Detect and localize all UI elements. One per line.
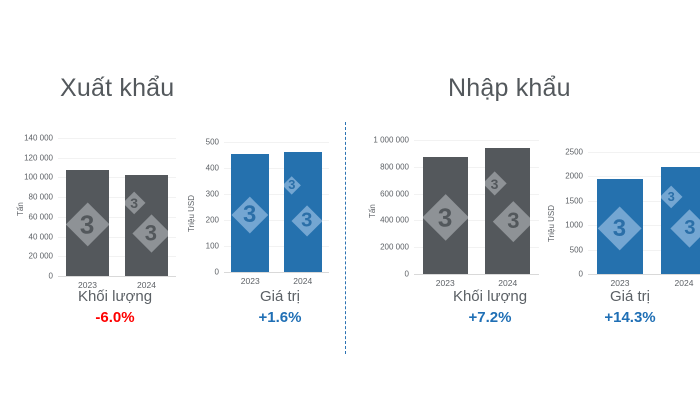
gridline [588,152,700,153]
y-axis-tick-label: 500 [182,138,219,147]
caption-export-value: Giá trị +1.6% [205,287,355,328]
y-axis-tick-label: 0 [182,268,219,277]
y-axis-tick-label: 0 [8,272,53,281]
caption-value: +14.3% [560,308,700,328]
caption-export-volume: Khối lượng -6.0% [20,287,210,328]
bar-2024 [485,148,530,274]
gridline [224,142,329,143]
y-axis-tick-label: 40 000 [8,232,53,241]
bar-2023 [597,179,643,274]
y-axis-tick-label: 100 000 [8,173,53,182]
bar-2024 [284,152,322,272]
caption-import-value: Giá trị +14.3% [560,287,700,328]
bar-2024 [125,175,167,276]
x-axis-line [224,272,329,273]
y-axis-tick-label: 800 000 [352,162,409,171]
y-axis-tick-label: 2500 [540,148,583,157]
gridline [58,158,176,159]
y-axis-tick-label: 0 [540,270,583,279]
y-axis-tick-label: 2000 [540,172,583,181]
caption-label: Khối lượng [395,287,585,306]
y-axis-tick-label: 200 000 [352,243,409,252]
chart-import-volume: Tấn0200 000400 000600 000800 0001 000 00… [352,130,545,296]
y-axis-tick-label: 1500 [540,196,583,205]
x-axis-tick-label: 2023 [224,276,277,286]
caption-value: +1.6% [205,308,355,328]
y-axis-tick-label: 200 [182,216,219,225]
y-axis-tick-label: 600 000 [352,189,409,198]
y-axis-tick-label: 0 [352,270,409,279]
caption-import-volume: Khối lượng +7.2% [395,287,585,328]
x-axis-line [414,274,539,275]
bar-2023 [231,154,269,272]
bar-2024 [661,167,700,274]
y-axis-tick-label: 400 000 [352,216,409,225]
caption-value: -6.0% [20,308,210,328]
bar-2023 [423,157,468,274]
y-axis-tick-label: 500 [540,245,583,254]
y-axis-tick-label: 100 [182,242,219,251]
caption-label: Giá trị [205,287,355,306]
y-axis-tick-label: 400 [182,164,219,173]
caption-label: Khối lượng [20,287,210,306]
y-axis-tick-label: 300 [182,190,219,199]
gridline [58,138,176,139]
x-axis-line [588,274,700,275]
x-axis-tick-label: 2024 [277,276,330,286]
y-axis-tick-label: 60 000 [8,212,53,221]
y-axis-title: Triệu USD [187,195,196,232]
section-title-export: Xuất khẩu [60,74,174,103]
caption-value: +7.2% [395,308,585,328]
y-axis-tick-label: 1 000 000 [352,136,409,145]
y-axis-tick-label: 1000 [540,221,583,230]
chart-export-volume: Tấn020 00040 00060 00080 000100 000120 0… [8,130,182,298]
chart-import-value: Triệu USD0500100015002000250020232024333 [540,142,700,296]
chart-export-value: Triệu USD010020030040050020232024333 [182,132,335,294]
y-axis-tick-label: 80 000 [8,193,53,202]
section-title-import: Nhập khẩu [448,74,571,103]
y-axis-tick-label: 120 000 [8,153,53,162]
gridline [414,140,539,141]
caption-label: Giá trị [560,287,700,306]
x-axis-line [58,276,176,277]
y-axis-tick-label: 140 000 [8,134,53,143]
infographic-canvas: Xuất khẩu Nhập khẩu Tấn020 00040 00060 0… [0,0,700,400]
bar-2023 [66,170,108,276]
y-axis-tick-label: 20 000 [8,252,53,261]
